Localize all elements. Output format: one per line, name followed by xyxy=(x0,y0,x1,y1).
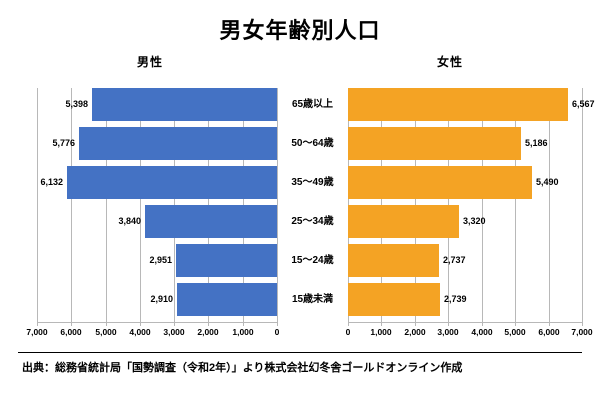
bar-value-label: 3,320 xyxy=(463,205,486,238)
category-label: 15歳未満 xyxy=(277,283,348,316)
bar-left[interactable] xyxy=(67,166,277,199)
axis-tick xyxy=(448,322,449,326)
axis-tick xyxy=(277,322,278,326)
axis-tick xyxy=(348,322,349,326)
axis-tick-label: 5,000 xyxy=(86,327,126,337)
axis-tick xyxy=(37,322,38,326)
axis-tick xyxy=(482,322,483,326)
bar-row: 5,490 xyxy=(348,166,582,199)
bar-row: 2,951 xyxy=(37,244,277,277)
axis-tick-label: 6,000 xyxy=(51,327,91,337)
bar-right[interactable] xyxy=(348,244,439,277)
bar-right[interactable] xyxy=(348,127,521,160)
category-label: 65歳以上 xyxy=(277,88,348,121)
bar-row: 5,398 xyxy=(37,88,277,121)
female-series-label: 女性 xyxy=(415,54,485,70)
category-label: 35〜49歳 xyxy=(277,166,348,199)
gridline xyxy=(582,88,583,322)
bar-value-label: 3,840 xyxy=(118,205,141,238)
female-bar-rows: 6,5675,1865,4903,3202,7372,739 xyxy=(348,88,582,322)
bar-value-label: 5,398 xyxy=(65,88,88,121)
bar-row: 2,739 xyxy=(348,283,582,316)
axis-tick xyxy=(549,322,550,326)
axis-tick-label: 3,000 xyxy=(154,327,194,337)
axis-tick xyxy=(381,322,382,326)
source-note: 出典：総務省統計局「国勢調査（令和2年）」より株式会社幻冬舎ゴールドオンライン作… xyxy=(22,360,462,376)
bar-row: 2,910 xyxy=(37,283,277,316)
axis-tick-label: 7,000 xyxy=(17,327,57,337)
bar-right[interactable] xyxy=(348,166,532,199)
axis-tick-label: 1,000 xyxy=(223,327,263,337)
axis-tick xyxy=(208,322,209,326)
female-x-axis: 01,0002,0003,0004,0005,0006,0007,000 xyxy=(348,322,582,340)
bar-row: 6,567 xyxy=(348,88,582,121)
bar-row: 2,737 xyxy=(348,244,582,277)
bar-value-label: 5,186 xyxy=(525,127,548,160)
bar-value-label: 6,567 xyxy=(572,88,595,121)
population-pyramid-chart: 男女年齢別人口 男性 女性 5,3985,7766,1323,8402,9512… xyxy=(0,0,600,400)
female-plot-panel: 6,5675,1865,4903,3202,7372,739 xyxy=(348,88,582,322)
male-plot-panel: 5,3985,7766,1323,8402,9512,910 xyxy=(37,88,277,322)
axis-tick xyxy=(515,322,516,326)
axis-tick xyxy=(174,322,175,326)
bar-right[interactable] xyxy=(348,88,568,121)
bar-row: 3,320 xyxy=(348,205,582,238)
bar-row: 5,776 xyxy=(37,127,277,160)
bar-value-label: 5,776 xyxy=(52,127,75,160)
bar-left[interactable] xyxy=(92,88,277,121)
bar-row: 6,132 xyxy=(37,166,277,199)
axis-tick xyxy=(582,322,583,326)
axis-tick-label: 4,000 xyxy=(120,327,160,337)
axis-tick xyxy=(243,322,244,326)
bar-left[interactable] xyxy=(145,205,277,238)
bar-row: 5,186 xyxy=(348,127,582,160)
category-label: 50〜64歳 xyxy=(277,127,348,160)
bar-right[interactable] xyxy=(348,205,459,238)
axis-tick xyxy=(140,322,141,326)
male-axis-line xyxy=(37,322,277,323)
bar-value-label: 2,951 xyxy=(149,244,172,277)
bar-value-label: 2,737 xyxy=(443,244,466,277)
footer-divider xyxy=(18,352,582,353)
axis-tick xyxy=(415,322,416,326)
male-bar-rows: 5,3985,7766,1323,8402,9512,910 xyxy=(37,88,277,322)
bar-value-label: 6,132 xyxy=(40,166,63,199)
bar-value-label: 2,910 xyxy=(150,283,173,316)
bar-left[interactable] xyxy=(79,127,277,160)
female-axis-line xyxy=(348,322,582,323)
bar-value-label: 2,739 xyxy=(444,283,467,316)
category-axis-labels: 65歳以上50〜64歳35〜49歳25〜34歳15〜24歳15歳未満 xyxy=(277,88,348,322)
axis-tick-label: 2,000 xyxy=(188,327,228,337)
bar-value-label: 5,490 xyxy=(536,166,559,199)
axis-tick-label: 7,000 xyxy=(562,327,600,337)
category-label: 15〜24歳 xyxy=(277,244,348,277)
axis-tick xyxy=(106,322,107,326)
bar-left[interactable] xyxy=(177,283,277,316)
male-x-axis: 01,0002,0003,0004,0005,0006,0007,000 xyxy=(37,322,277,340)
bar-row: 3,840 xyxy=(37,205,277,238)
bar-left[interactable] xyxy=(176,244,277,277)
male-series-label: 男性 xyxy=(115,54,185,70)
bar-right[interactable] xyxy=(348,283,440,316)
page-title: 男女年齢別人口 xyxy=(0,17,600,45)
category-label: 25〜34歳 xyxy=(277,205,348,238)
axis-tick-label: 0 xyxy=(257,327,297,337)
axis-tick xyxy=(71,322,72,326)
